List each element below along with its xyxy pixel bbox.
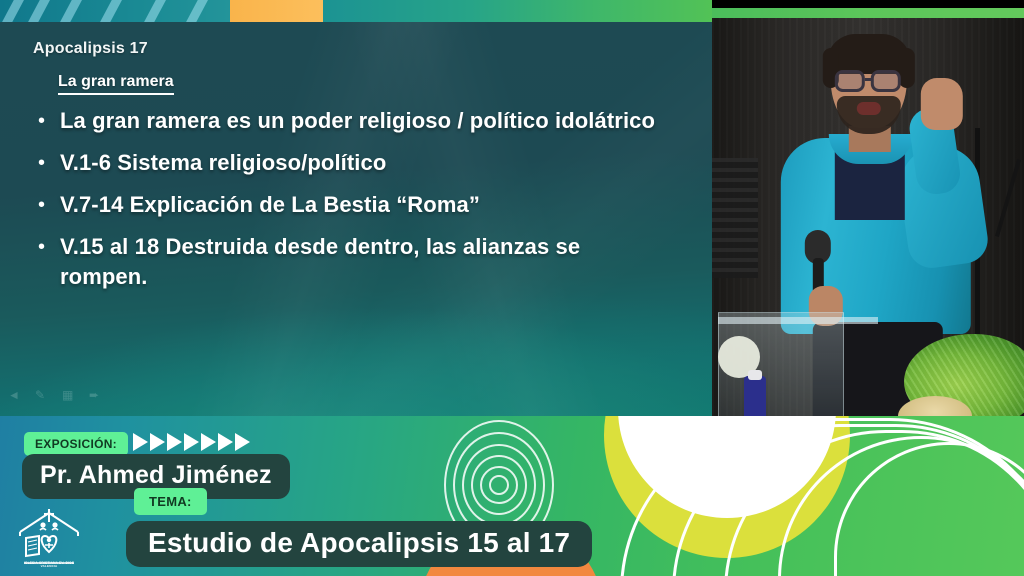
water-bottle-cap	[748, 370, 762, 380]
list-item: • V.7-14 Explicación de La Bestia “Roma”	[38, 190, 658, 220]
bullet-marker: •	[38, 232, 60, 262]
lower-third-banner: EXPOSICIÓN: Pr. Ahmed Jiménez TEMA: Estu…	[0, 416, 1024, 576]
speaker-glasses-bridge	[865, 78, 873, 81]
church-logo: IGLESIA CRISTIANA EV. DIOS VALENCIA	[14, 506, 84, 572]
presenter-controls-bar[interactable]: ◄ ✎ ▦ ➨	[8, 389, 102, 402]
tema-label: TEMA:	[134, 488, 207, 515]
speaker-hair-right	[899, 48, 915, 88]
arrow-run-decoration	[133, 433, 250, 451]
strip-orange-segment	[230, 0, 323, 22]
arrow-icon	[184, 433, 199, 451]
arrow-icon	[218, 433, 233, 451]
arrow-icon	[167, 433, 182, 451]
church-logo-mark	[14, 506, 84, 568]
pen-icon[interactable]: ✎	[35, 389, 48, 402]
slide-top-decorative-strip	[0, 0, 712, 22]
water-bottle	[744, 376, 766, 420]
presentation-stream-screen: Apocalipsis 17 La gran ramera • La gran …	[0, 0, 1024, 576]
bullet-text: V.1-6 Sistema religioso/político	[60, 148, 386, 178]
strip-green-segment	[323, 0, 712, 22]
exposicion-label: EXPOSICIÓN:	[24, 432, 128, 456]
strip-teal-segment	[0, 0, 230, 22]
list-item: • V.1-6 Sistema religioso/político	[38, 148, 658, 178]
speaker-glasses-left	[835, 70, 865, 92]
next-slide-icon[interactable]: ➨	[89, 389, 102, 402]
slide-bullet-list: • La gran ramera es un poder religioso /…	[38, 106, 658, 304]
list-item: • V.15 al 18 Destruida desde dentro, las…	[38, 232, 658, 292]
church-logo-caption: IGLESIA CRISTIANA EV. DIOS VALENCIA	[16, 561, 82, 569]
bullet-marker: •	[38, 148, 60, 178]
video-top-black-bar	[712, 0, 1024, 8]
arrow-icon	[150, 433, 165, 451]
speaker-raised-hand	[921, 78, 963, 130]
pulpit-top-rail	[718, 317, 878, 324]
video-green-accent-bar	[712, 8, 1024, 18]
speaker-mouth	[857, 102, 881, 115]
slide-subtitle: La gran ramera	[58, 74, 174, 95]
bullet-text: V.15 al 18 Destruida desde dentro, las a…	[60, 232, 658, 292]
topic-title: Estudio de Apocalipsis 15 al 17	[126, 521, 592, 567]
bullet-marker: •	[38, 190, 60, 220]
presentation-slide: Apocalipsis 17 La gran ramera • La gran …	[0, 0, 712, 416]
church-logo-line2: VALENCIA	[16, 565, 82, 569]
bullet-marker: •	[38, 106, 60, 136]
speaker-video-feed[interactable]	[712, 8, 1024, 420]
ring-1	[489, 475, 509, 495]
slide-view-icon[interactable]: ▦	[62, 389, 75, 402]
arrow-icon	[133, 433, 148, 451]
previous-slide-icon[interactable]: ◄	[8, 389, 21, 402]
slide-kicker: Apocalipsis 17	[33, 40, 148, 58]
speaker-glasses-right	[871, 70, 901, 92]
music-stand	[712, 158, 758, 278]
bullet-text: V.7-14 Explicación de La Bestia “Roma”	[60, 190, 480, 220]
list-item: • La gran ramera es un poder religioso /…	[38, 106, 658, 136]
bullet-text: La gran ramera es un poder religioso / p…	[60, 106, 655, 136]
arrow-icon	[235, 433, 250, 451]
arrow-icon	[201, 433, 216, 451]
